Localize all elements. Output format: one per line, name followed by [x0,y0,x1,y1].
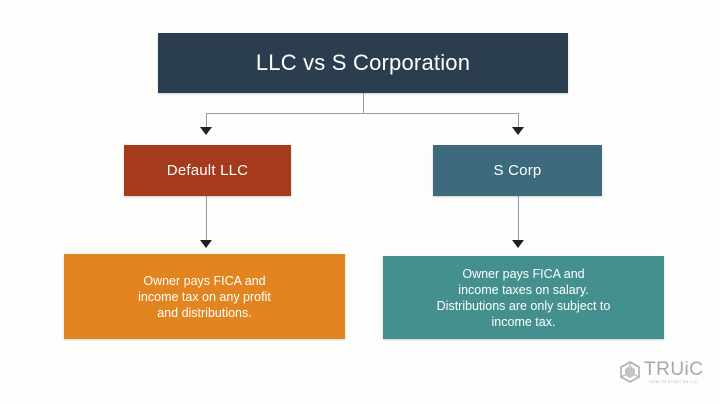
title-box-label: LLC vs S Corporation [256,51,470,75]
s-corp-box: S Corp [433,145,602,196]
arrowhead-to-default-llc [200,127,212,135]
s-corp-label: S Corp [494,162,542,179]
diagram-canvas: LLC vs S Corporation Default LLC S Corp … [0,0,720,404]
arrowhead-to-s-corp-detail [512,240,524,248]
truic-text-block: TRUiC HOW TO START AN LLC [644,360,704,384]
default-llc-box: Default LLC [124,145,291,196]
connector-drop-to-s-corp-detail [518,196,519,246]
truic-tagline: HOW TO START AN LLC [644,381,704,385]
default-llc-detail-text: Owner pays FICA and income tax on any pr… [138,273,271,321]
connector-drop-to-default-llc-detail [206,196,207,246]
s-corp-detail-box: Owner pays FICA and income taxes on sala… [383,256,664,339]
default-llc-label: Default LLC [167,162,248,179]
connector-spreader-bar [206,113,519,114]
title-box: LLC vs S Corporation [158,33,568,93]
truic-cube-icon [620,361,640,383]
s-corp-detail-text: Owner pays FICA and income taxes on sala… [437,266,611,330]
default-llc-detail-box: Owner pays FICA and income tax on any pr… [64,254,345,339]
connector-title-stem [363,93,364,113]
truic-wordmark: TRUiC [644,360,704,379]
arrowhead-to-default-llc-detail [200,240,212,248]
arrowhead-to-s-corp [512,127,524,135]
truic-logo: TRUiC HOW TO START AN LLC [620,360,704,384]
